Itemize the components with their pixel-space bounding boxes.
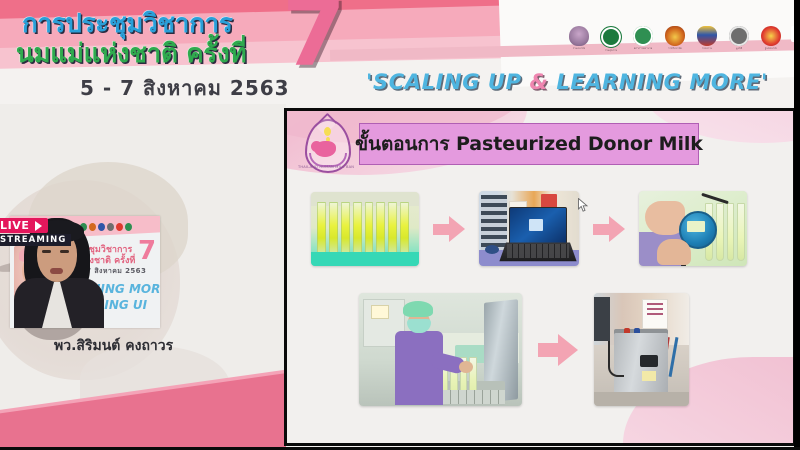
logo-mark	[569, 26, 589, 46]
mouse-pointer	[578, 198, 589, 213]
photo3-hand-lower	[657, 239, 691, 265]
process-flow-row-1	[311, 191, 747, 266]
bottle	[376, 202, 385, 254]
speaker-mouth	[50, 268, 63, 274]
arrow-right-2	[593, 216, 625, 242]
photo-digital-thermometer-probe	[639, 191, 747, 266]
logo-caption: มูลนิธิ	[736, 47, 743, 50]
play-icon	[35, 221, 42, 231]
arrow-right-3	[538, 334, 578, 366]
tagline-ampersand: &	[530, 70, 549, 94]
conference-date: 5 - 7 สิงหาคม 2563	[80, 72, 290, 104]
sign-line	[647, 313, 663, 315]
arrow-head	[449, 216, 465, 242]
speaker-eye-right	[60, 250, 69, 253]
photo3-thermometer-display	[687, 221, 705, 232]
live-streaming-badge: LIVE STREAMING	[0, 218, 71, 246]
green-circle-medical-logo: สภาการพยาบาล	[630, 26, 656, 56]
logo-mark	[761, 26, 781, 46]
video-logo-8	[125, 223, 132, 231]
bottle	[365, 202, 374, 254]
thai-royal-emblem-logo: กรมอนามัย	[566, 26, 592, 56]
photo5-hose	[608, 341, 624, 377]
photo-stainless-storage-freezer	[594, 293, 689, 406]
logo-mark	[665, 26, 685, 46]
right-black-border	[794, 0, 800, 450]
red-circle-seal-logo: ศูนย์อนามัย	[758, 26, 784, 56]
human-milk-bank-droplet-logo: THAILAND HUMAN MILK BANK	[297, 117, 355, 179]
sign-line	[647, 303, 663, 305]
conference-title-line-2: นมแม่แห่งชาติ ครั้งที่	[16, 33, 246, 74]
logo-mark	[729, 26, 749, 46]
bottle	[716, 203, 724, 261]
logo-mark	[697, 26, 717, 46]
logo-caption: สภาการพยาบาล	[634, 47, 653, 50]
speaker-eye-left	[42, 250, 51, 253]
photo2-shelving	[481, 195, 507, 251]
photo5-floor	[594, 392, 689, 406]
logo-caption: กรมอนามัย	[573, 47, 586, 50]
bottle	[353, 202, 362, 254]
process-flow-row-2	[359, 293, 689, 406]
slide-title-text: ขั้นตอนการ Pasteurized Donor Milk	[355, 129, 703, 159]
photo2-red-box	[541, 194, 557, 208]
streaming-label: STREAMING	[0, 234, 71, 246]
presentation-slide[interactable]: THAILAND HUMAN MILK BANK ขั้นตอนการ Past…	[284, 108, 796, 446]
photo4-nurse-hand	[459, 361, 473, 373]
droplet-milk-drop	[324, 127, 331, 136]
silver-circle-crest-logo: มูลนิธิ	[726, 26, 752, 56]
photo-nurse-loading-bottles	[359, 293, 522, 406]
video-logo-6	[107, 223, 114, 231]
conference-header-banner: การประชุมวิชาการ นมแม่แห่งชาติ ครั้งที่ …	[0, 0, 800, 106]
conference-edition-number: 7	[282, 0, 346, 80]
logo-mark	[600, 26, 622, 48]
logo-caption: ราชวิทยาลัย	[668, 47, 682, 50]
logo-arc-caption: THAILAND HUMAN MILK BANK	[298, 165, 354, 169]
photo5-control-panel	[640, 355, 658, 367]
arrow-head	[558, 334, 578, 366]
bottle	[341, 202, 350, 254]
cursor-svg	[578, 198, 589, 213]
arrow-shaft	[538, 343, 560, 357]
video-banner-number: 7	[138, 238, 156, 264]
photo1-floor	[311, 252, 419, 266]
video-logo-4	[89, 223, 96, 231]
photo5-yellow-label	[642, 371, 656, 381]
slide-title-banner: ขั้นตอนการ Pasteurized Donor Milk	[359, 123, 699, 165]
photo2-screen-icon	[529, 219, 543, 231]
live-label-row: LIVE	[0, 218, 48, 233]
thai-pagoda-crest-logo: กระทรวง	[694, 26, 720, 56]
conference-tagline: 'SCALING UP & LEARNING MORE'	[366, 70, 768, 94]
bottle	[400, 202, 409, 254]
logo-caption: ศูนย์อนามัย	[765, 47, 778, 50]
arrow-head	[609, 216, 625, 242]
bottle	[727, 203, 735, 261]
photo5-wall-sign	[642, 299, 668, 329]
live-label: LIVE	[0, 219, 30, 232]
bottle	[388, 202, 397, 254]
arrow-right-1	[433, 216, 465, 242]
sponsor-logo-row: กรมอนามัย กรมสุขภาพ สภาการพยาบาล ราชวิทย…	[566, 26, 800, 56]
photo2-laptop-keyboard	[507, 244, 569, 258]
stream-frame: การประชุมวิชาการ นมแม่แห่งชาติ ครั้งที่ …	[0, 0, 800, 450]
photo1-bottle-rack	[317, 202, 409, 254]
logo-mark	[633, 26, 653, 46]
bottle	[329, 202, 338, 254]
speaker-name-label: พว.สิริมนต์ คงถาวร	[54, 335, 173, 357]
photo5-dark-doorway	[594, 297, 610, 341]
logo-caption: กรมสุขภาพ	[605, 49, 618, 52]
photo-milk-bottle-racks	[311, 192, 419, 266]
sign-line	[647, 308, 663, 310]
bottle	[317, 202, 326, 254]
speaker-panel: การประชุมวิชาการ นมแม่แห่งชาติ ครั้งที่ …	[0, 104, 286, 450]
green-cross-health-logo: กรมสุขภาพ	[598, 26, 624, 56]
tagline-suffix: LEARNING MORE'	[548, 70, 768, 94]
photo2-mouse	[485, 245, 499, 254]
baby-head-icon	[311, 141, 322, 152]
royal-crest-gold-logo: ราชวิทยาลัย	[662, 26, 688, 56]
video-logo-7	[116, 223, 123, 231]
tagline-prefix: 'SCALING UP	[366, 70, 530, 94]
photo4-wall-note	[371, 305, 389, 319]
photo4-surgical-cap	[403, 301, 433, 317]
logo-caption: กระทรวง	[702, 47, 712, 50]
photo-laptop-pasteurizer-control	[479, 191, 579, 266]
bottle	[737, 203, 745, 261]
video-logo-5	[98, 223, 105, 231]
